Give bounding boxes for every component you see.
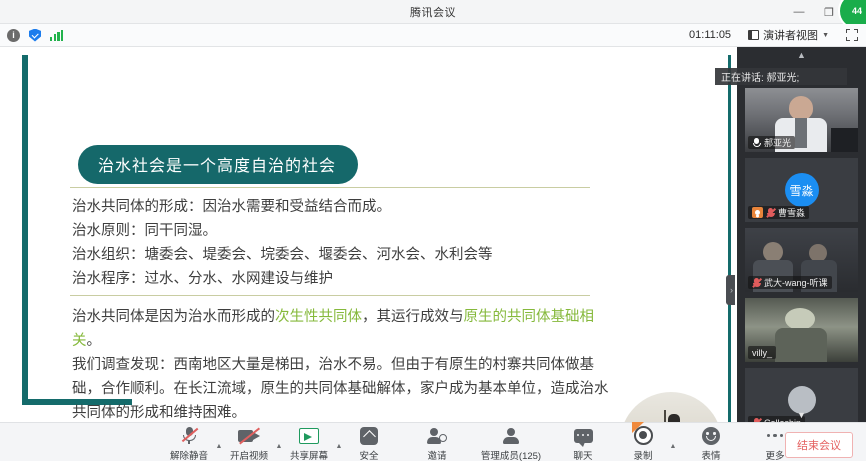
tencent-meeting-window: 腾讯会议 — ❐ 44 i 01:11:05 演讲者视图 ▼ [0,0,866,461]
para-a-pre: 治水共同体是因为治水而形成的 [72,309,275,325]
share-screen-button[interactable]: 共享屏幕 [284,423,334,461]
emoji-button[interactable]: 表情 [686,423,736,461]
view-mode-label: 演讲者视图 [763,27,818,43]
microphone-muted-icon [182,426,197,446]
meeting-info-bar: i 01:11:05 演讲者视图 ▼ [0,24,866,47]
more-icon [767,426,783,446]
title-bar: 腾讯会议 — ❐ 44 [0,0,866,24]
invite-icon [427,426,447,446]
restore-button[interactable]: ❐ [822,6,836,19]
share-options-caret-icon[interactable]: ▲ [334,435,344,450]
participant-tile[interactable]: villy_ [745,298,858,362]
participant-name: villy_ [752,348,772,358]
security-icon [360,426,378,446]
fullscreen-icon[interactable] [846,29,858,41]
record-button[interactable]: 录制 [618,423,668,461]
more-label: 更多 [765,448,784,461]
microphone-icon [752,137,761,148]
rail-collapse-handle[interactable]: › [726,275,735,305]
security-button[interactable]: 安全 [344,423,394,461]
record-icon [634,426,653,446]
share-screen-label: 共享屏幕 [290,448,328,461]
info-bar-right: 01:11:05 演讲者视图 ▼ [689,26,858,44]
mute-toggle-label: 解除静音 [170,448,208,461]
participant-name-badge: villy_ [748,346,776,359]
participant-tile[interactable]: 郝亚光 [745,88,858,152]
para-a-end: 。 [87,333,102,349]
participant-name: 武大-wang-听课 [764,276,828,289]
record-options-caret-icon[interactable]: ▲ [668,435,678,450]
participant-rail: ▲ 正在讲话: 郝亚光; 郝亚光 雪淼 曹雪淼 [737,47,866,422]
video-toggle-button[interactable]: 开启视频 [224,423,274,461]
layout-icon [748,30,759,40]
slide-paragraph-a: 治水共同体是因为治水而形成的次生性共同体，其运行成效与原生的共同体基础相关。 [72,305,617,353]
window-title: 腾讯会议 [410,4,456,20]
info-icon[interactable]: i [7,29,20,42]
shared-screen-stage: 治水社会是一个高度自治的社会 治水共同体的形成：因治水需要和受益结合而成。 治水… [0,47,735,422]
manage-members-button[interactable]: 管理成员(125) [474,423,548,461]
participant-name-badge: 武大-wang-听课 [748,276,832,289]
meeting-timer: 01:11:05 [689,29,731,41]
speaking-indicator: 正在讲话: 郝亚光; [715,68,847,85]
invite-button[interactable]: 邀请 [412,423,462,461]
presentation-slide: 治水社会是一个高度自治的社会 治水共同体的形成：因治水需要和受益结合而成。 治水… [0,47,735,422]
minimize-button[interactable]: — [792,6,806,18]
participant-tile[interactable]: 武大-wang-听课 [745,228,858,292]
slide-body-block-1: 治水共同体的形成：因治水需要和受益结合而成。 治水原则：同干同湿。 治水组织：塘… [72,195,617,291]
chat-icon [574,426,593,446]
participant-name: 郝亚光 [764,136,791,149]
participant-name-badge: 郝亚光 [748,136,795,149]
slide-frame-right [728,55,731,422]
window-controls: — ❐ [792,0,836,24]
manage-members-icon [502,426,520,446]
control-buttons: 解除静音 ▲ 开启视频 ▲ 共享屏幕 ▲ 安全 [164,423,800,461]
participant-tile[interactable]: 雪淼 曹雪淼 [745,158,858,222]
slide-line: 治水共同体的形成：因治水需要和受益结合而成。 [72,195,617,219]
camera-off-icon [238,426,260,446]
microphone-muted-icon [752,277,761,288]
host-badge-icon [752,207,763,218]
chevron-down-icon: ▼ [822,32,829,39]
participant-name-badge: 曹雪淼 [748,206,809,219]
slide-paragraph-b: 我们调查发现：西南地区大量是梯田，治水不易。但由于有原生的村寨共同体做基础，合作… [72,353,617,422]
slide-frame-left [22,55,28,405]
rail-scroll-up-button[interactable]: ▲ [737,47,866,63]
para-a-highlight-1: 次生性共同体 [275,309,362,325]
mute-toggle-button[interactable]: 解除静音 [164,423,214,461]
video-options-caret-icon[interactable]: ▲ [274,435,284,450]
video-toggle-label: 开启视频 [230,448,268,461]
network-signal-icon[interactable] [50,30,63,41]
chat-label: 聊天 [573,448,592,461]
microphone-muted-icon [766,207,775,218]
emoji-label: 表情 [701,448,720,461]
security-label: 安全 [359,448,378,461]
rail-scroll-down-button[interactable]: ▼ [737,408,866,422]
share-screen-icon [299,426,319,446]
slide-body-block-2: 治水共同体是因为治水而形成的次生性共同体，其运行成效与原生的共同体基础相关。 我… [72,305,617,422]
para-a-mid: ，其运行成效与 [362,309,464,325]
emoji-icon [702,426,720,446]
divider-top [70,187,590,188]
info-bar-left-icons: i [7,29,63,42]
audio-options-caret-icon[interactable]: ▲ [214,435,224,450]
participant-avatar: 雪淼 [785,173,819,207]
view-mode-switch[interactable]: 演讲者视图 ▼ [745,26,832,44]
manage-members-label: 管理成员(125) [481,448,541,461]
slide-line: 治水原则：同干同湿。 [72,219,617,243]
chat-button[interactable]: 聊天 [558,423,608,461]
divider-middle [70,295,590,296]
end-meeting-button[interactable]: 结束会议 [785,432,853,458]
slide-line: 治水程序：过水、分水、水网建设与维护 [72,267,617,291]
record-label: 录制 [633,448,652,461]
slide-title: 治水社会是一个高度自治的社会 [78,145,358,184]
slide-photo [604,392,722,422]
participant-name: 曹雪淼 [778,206,805,219]
invite-label: 邀请 [427,448,446,461]
security-shield-icon[interactable] [29,29,41,42]
meeting-control-bar: 解除静音 ▲ 开启视频 ▲ 共享屏幕 ▲ 安全 [0,422,866,461]
slide-line: 治水组织：塘委会、堤委会、垸委会、堰委会、河水会、水利会等 [72,243,617,267]
